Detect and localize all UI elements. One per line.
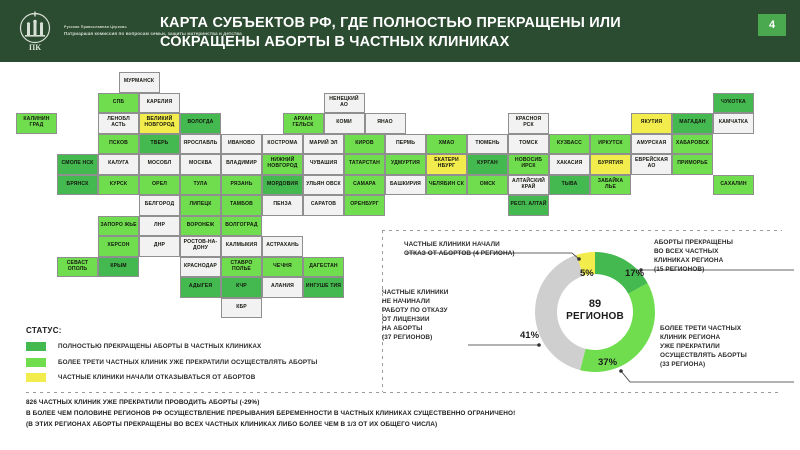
- callout-third-line2: КЛИНИК РЕГИОНА: [660, 333, 800, 342]
- map-cell: САРАТОВ: [303, 195, 344, 216]
- callout-third: БОЛЕЕ ТРЕТИ ЧАСТНЫХ КЛИНИК РЕГИОНА УЖЕ П…: [660, 324, 800, 369]
- map-cell: ЛЕНОБЛ АСТЬ: [98, 113, 139, 134]
- map-cell: АРХАН ГЕЛЬСК: [283, 113, 324, 134]
- map-cell: ТЮМЕНЬ: [467, 134, 508, 155]
- callout-stopped-line4: (15 РЕГИОНОВ): [654, 265, 794, 274]
- donut-slice-1: [580, 283, 655, 372]
- map-cell: ДАГЕСТАН: [303, 257, 344, 278]
- map-cell: ЧЕЛЯБИН СК: [426, 175, 467, 196]
- divider-bottom-dotted: [26, 392, 782, 393]
- map-cell: ПСКОВ: [98, 134, 139, 155]
- donut-center-number: 89: [547, 298, 643, 311]
- map-cell: ТАМБОВ: [221, 195, 262, 216]
- map-cell: КИРОВ: [344, 134, 385, 155]
- map-cell: АЛТАЙСКИЙ КРАЙ: [508, 175, 549, 196]
- map-cell: ТВЕРЬ: [139, 134, 180, 155]
- map-cell: АЛАНИЯ: [262, 277, 303, 298]
- map-cell: КРАСНОДАР: [180, 257, 221, 278]
- map-cell: ИРКУТСК: [590, 134, 631, 155]
- map-cell: НОВОСИБ ИРСК: [508, 154, 549, 175]
- callout-starting-line2: ОТКАЗ ОТ АБОРТОВ (4 РЕГИОНА): [404, 249, 574, 258]
- callout-none-line2: НЕ НАЧИНАЛИ: [382, 297, 500, 306]
- legend-label: ПОЛНОСТЬЮ ПРЕКРАЩЕНЫ АБОРТЫ В ЧАСТНЫХ КЛ…: [58, 343, 261, 350]
- map-cell: ТЫВА: [549, 175, 590, 196]
- footer-line-2: В БОЛЕЕ ЧЕМ ПОЛОВИНЕ РЕГИОНОВ РФ ОСУЩЕСТ…: [26, 410, 776, 419]
- map-cell: ЯРОСЛАВЛЬ: [180, 134, 221, 155]
- map-cell: КУРСК: [98, 175, 139, 196]
- donut-leader-dot-1: [619, 369, 623, 373]
- legend-swatch-third: [26, 358, 46, 367]
- footer-line-3: (В ЭТИХ РЕГИОНАХ АБОРТЫ ПРЕКРАЩЕНЫ ВО ВС…: [26, 421, 776, 430]
- callout-starting: ЧАСТНЫЕ КЛИНИКИ НАЧАЛИ ОТКАЗ ОТ АБОРТОВ …: [404, 240, 574, 258]
- infographic-page: ПК Русская Православная Церковь Патриарш…: [0, 0, 800, 450]
- map-cell: КБР: [221, 298, 262, 319]
- page-title: КАРТА СУБЪЕКТОВ РФ, ГДЕ ПОЛНОСТЬЮ ПРЕКРА…: [160, 14, 720, 51]
- map-cell: ЧЕЧНЯ: [262, 257, 303, 278]
- callout-third-line5: (33 РЕГИОНА): [660, 360, 800, 369]
- map-cell: КУЗБАСС: [549, 134, 590, 155]
- footer-line-1: 826 ЧАСТНЫХ КЛИНИК УЖЕ ПРЕКРАТИЛИ ПРОВОД…: [26, 399, 776, 408]
- map-cell: БУРЯТИЯ: [590, 154, 631, 175]
- map-cell: КАЛИНИН ГРАД: [16, 113, 57, 134]
- map-cell: ЗАБАЙКА ЛЬЕ: [590, 175, 631, 196]
- callout-none-line3: РАБОТУ ПО ОТКАЗУ: [382, 306, 500, 315]
- map-cell: ХМАО: [426, 134, 467, 155]
- page-number-badge: 4: [758, 14, 786, 36]
- legend-row: ПОЛНОСТЬЮ ПРЕКРАЩЕНЫ АБОРТЫ В ЧАСТНЫХ КЛ…: [26, 342, 376, 351]
- callout-third-line3: УЖЕ ПРЕКРАТИЛИ: [660, 342, 800, 351]
- map-cell: АДЫГЕЯ: [180, 277, 221, 298]
- map-cell: АМУРСКАЯ: [631, 134, 672, 155]
- donut-leader-dot-2: [537, 343, 541, 347]
- map-cell: РОСТОВ-НА-ДОНУ: [180, 236, 221, 257]
- donut-chart-area: 89 РЕГИОНОВ 17% 5% 41% 37% ЧАСТНЫЕ КЛИНИ…: [382, 232, 800, 392]
- map-cell: ДНР: [139, 236, 180, 257]
- map-cell: ПРИМОРЬЕ: [672, 154, 713, 175]
- donut-center-unit: РЕГИОНОВ: [547, 311, 643, 323]
- map-cell: ВОЛОГДА: [180, 113, 221, 134]
- donut-pct-third: 37%: [598, 357, 617, 368]
- map-cell: ТУЛА: [180, 175, 221, 196]
- callout-none-line1: ЧАСТНЫЕ КЛИНИКИ: [382, 288, 500, 297]
- donut-pct-stopped: 17%: [625, 268, 644, 279]
- map-cell: ОМСК: [467, 175, 508, 196]
- church-emblem-icon: ПК: [14, 9, 58, 53]
- map-cell: ПЕРМЬ: [385, 134, 426, 155]
- map-cell: БРЯНСК: [57, 175, 98, 196]
- map-cell: КРАСНОЯ РСК: [508, 113, 549, 134]
- map-cell: БЕЛГОРОД: [139, 195, 180, 216]
- legend-swatch-stopped: [26, 342, 46, 351]
- legend-label: ЧАСТНЫЕ КЛИНИКИ НАЧАЛИ ОТКАЗЫВАТЬСЯ ОТ А…: [58, 374, 255, 381]
- header-bar: ПК Русская Православная Церковь Патриарш…: [0, 0, 800, 62]
- map-cell: КОСТРОМА: [262, 134, 303, 155]
- callout-starting-line1: ЧАСТНЫЕ КЛИНИКИ НАЧАЛИ: [404, 240, 574, 249]
- map-cell: МОРДОВИЯ: [262, 175, 303, 196]
- callout-none: ЧАСТНЫЕ КЛИНИКИ НЕ НАЧИНАЛИ РАБОТУ ПО ОТ…: [382, 288, 500, 343]
- map-cell: СМОЛЕ НСК: [57, 154, 98, 175]
- map-cell: ИНГУШЕ ТИЯ: [303, 277, 344, 298]
- map-cell: ХАКАСИЯ: [549, 154, 590, 175]
- legend-swatch-starting: [26, 373, 46, 382]
- map-cell: НИЖНИЙ НОВГОРОД: [262, 154, 303, 175]
- donut-center-label: 89 РЕГИОНОВ: [547, 298, 643, 322]
- map-cell: АСТРАХАНЬ: [262, 236, 303, 257]
- map-cell: ПЕНЗА: [262, 195, 303, 216]
- callout-none-line4: ОТ ЛИЦЕНЗИИ: [382, 315, 500, 324]
- donut-pct-starting: 5%: [580, 268, 594, 279]
- callout-third-line1: БОЛЕЕ ТРЕТИ ЧАСТНЫХ: [660, 324, 800, 333]
- map-cell: КРЫМ: [98, 257, 139, 278]
- donut-leader-dot-3: [577, 257, 581, 261]
- map-cell: САМАРА: [344, 175, 385, 196]
- map-cell: ТОМСК: [508, 134, 549, 155]
- map-cell: КАМЧАТКА: [713, 113, 754, 134]
- donut-pct-none: 41%: [520, 330, 539, 341]
- map-cell: НЕНЕЦКИЙ АО: [324, 93, 365, 114]
- map-cell: ЯКУТИЯ: [631, 113, 672, 134]
- legend-label: БОЛЕЕ ТРЕТИ ЧАСТНЫХ КЛИНИК УЖЕ ПРЕКРАТИЛ…: [58, 359, 317, 366]
- map-cell: ЛНР: [139, 216, 180, 237]
- map-cell: МОСКВА: [180, 154, 221, 175]
- map-cell: ЯНАО: [365, 113, 406, 134]
- map-cell: УЛЬЯН ОВСК: [303, 175, 344, 196]
- map-cell: КУРГАН: [467, 154, 508, 175]
- divider-top-dotted: [382, 230, 782, 231]
- map-cell: КАРЕЛИЯ: [139, 93, 180, 114]
- map-cell: САХАЛИН: [713, 175, 754, 196]
- callout-stopped-line3: КЛИНИКАХ РЕГИОНА: [654, 256, 794, 265]
- callout-none-line5: НА АБОРТЫ: [382, 324, 500, 333]
- legend-row: ЧАСТНЫЕ КЛИНИКИ НАЧАЛИ ОТКАЗЫВАТЬСЯ ОТ А…: [26, 373, 376, 382]
- map-cell: ЕКАТЕРИ НБУРГ: [426, 154, 467, 175]
- svg-text:ПК: ПК: [29, 43, 41, 52]
- callout-third-line4: ОСУЩЕСТВЛЯТЬ АБОРТЫ: [660, 351, 800, 360]
- map-cell: СПБ: [98, 93, 139, 114]
- map-cell: КАЛУГА: [98, 154, 139, 175]
- map-cell: ЧУКОТКА: [713, 93, 754, 114]
- map-cell: ВЛАДИМИР: [221, 154, 262, 175]
- callout-stopped-line1: АБОРТЫ ПРЕКРАЩЕНЫ: [654, 238, 794, 247]
- map-cell: ХЕРСОН: [98, 236, 139, 257]
- map-cell: МАГАДАН: [672, 113, 713, 134]
- map-cell: ТАТАРСТАН: [344, 154, 385, 175]
- map-cell: ВЕЛИКИЙ НОВГОРОД: [139, 113, 180, 134]
- map-cell: РЯЗАНЬ: [221, 175, 262, 196]
- map-cell: КОМИ: [324, 113, 365, 134]
- map-cell: СТАВРО ПОЛЬЕ: [221, 257, 262, 278]
- map-cell: КАЛМЫКИЯ: [221, 236, 262, 257]
- map-cell: ЧУВАШИЯ: [303, 154, 344, 175]
- donut-leader-line-1: [621, 371, 794, 382]
- map-cell: ОРЕЛ: [139, 175, 180, 196]
- status-legend: СТАТУС: ПОЛНОСТЬЮ ПРЕКРАЩЕНЫ АБОРТЫ В ЧА…: [26, 326, 376, 389]
- map-cell: ЗАПОРО ЖЬЕ: [98, 216, 139, 237]
- map-cell: ЛИПЕЦК: [180, 195, 221, 216]
- legend-row: БОЛЕЕ ТРЕТИ ЧАСТНЫХ КЛИНИК УЖЕ ПРЕКРАТИЛ…: [26, 358, 376, 367]
- map-cell: УДМУРТИЯ: [385, 154, 426, 175]
- map-cell: МОСОБЛ: [139, 154, 180, 175]
- callout-none-line6: (37 РЕГИОНОВ): [382, 333, 500, 342]
- map-cell: КЧР: [221, 277, 262, 298]
- callout-stopped: АБОРТЫ ПРЕКРАЩЕНЫ ВО ВСЕХ ЧАСТНЫХ КЛИНИК…: [654, 238, 794, 274]
- map-cell: БАШКИРИЯ: [385, 175, 426, 196]
- map-cell: МУРМАНСК: [119, 72, 160, 93]
- map-cell: ЕВРЕЙСКАЯ АО: [631, 154, 672, 175]
- map-cell: ВОЛГОГРАД: [221, 216, 262, 237]
- legend-title: СТАТУС:: [26, 326, 376, 335]
- map-cell: ИВАНОВО: [221, 134, 262, 155]
- footer-summary: 826 ЧАСТНЫХ КЛИНИК УЖЕ ПРЕКРАТИЛИ ПРОВОД…: [26, 399, 776, 432]
- callout-stopped-line2: ВО ВСЕХ ЧАСТНЫХ: [654, 247, 794, 256]
- map-cell: МАРИЙ ЭЛ: [303, 134, 344, 155]
- map-cell: РЕСП. АЛТАЙ: [508, 195, 549, 216]
- map-cell: ОРЕНБУРГ: [344, 195, 385, 216]
- map-cell: СЕВАСТ ОПОЛЬ: [57, 257, 98, 278]
- map-cell: ВОРОНЕЖ: [180, 216, 221, 237]
- map-cell: ХАБАРОВСК: [672, 134, 713, 155]
